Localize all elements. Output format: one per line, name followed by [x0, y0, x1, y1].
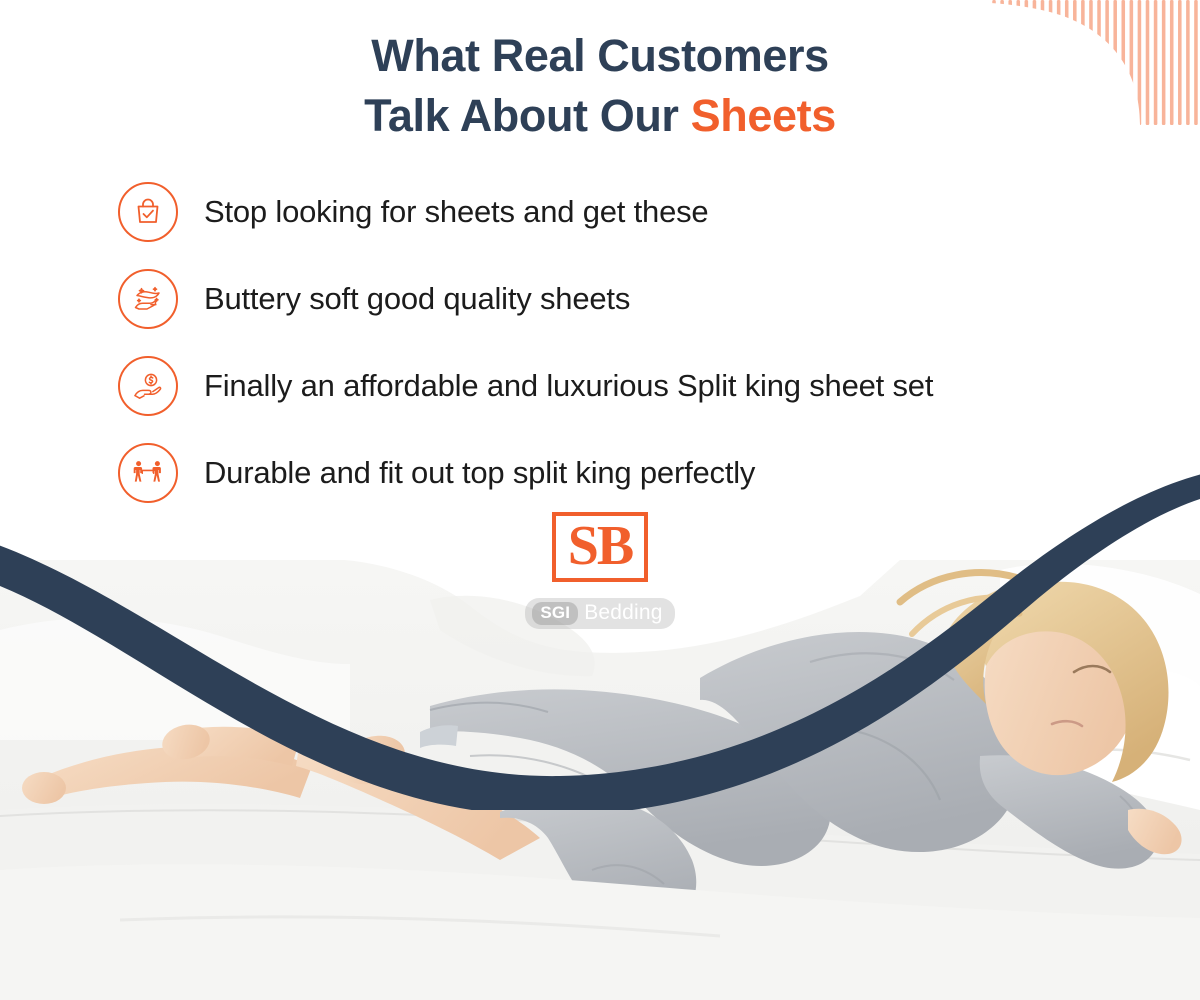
page-title: What Real Customers Talk About Our Sheet…: [0, 26, 1200, 146]
headline-accent-word: Sheets: [691, 90, 836, 141]
brand-logo: SB SGI Bedding: [0, 512, 1200, 629]
feature-label: Finally an affordable and luxurious Spli…: [204, 368, 933, 404]
logo-monogram: SB: [568, 515, 633, 577]
hand-soft-fabric-icon: [118, 269, 178, 329]
feature-row: Stop looking for sheets and get these: [118, 168, 1138, 255]
shopping-bag-check-icon: [118, 182, 178, 242]
feature-row: Buttery soft good quality sheets: [118, 255, 1138, 342]
hand-holding-money-icon: [118, 356, 178, 416]
feature-label: Buttery soft good quality sheets: [204, 281, 630, 317]
feature-row: Finally an affordable and luxurious Spli…: [118, 342, 1138, 429]
headline-line-2-prefix: Talk About Our: [364, 90, 691, 141]
headline-line-1: What Real Customers: [0, 26, 1200, 86]
headline-line-2: Talk About Our Sheets: [0, 86, 1200, 146]
watermark-word: Bedding: [584, 601, 662, 625]
infographic-banner: What Real Customers Talk About Our Sheet…: [0, 0, 1200, 1000]
two-people-stretching-sheet-icon: [118, 443, 178, 503]
watermark: SGI Bedding: [525, 598, 674, 629]
feature-list: Stop looking for sheets and get these Bu…: [118, 168, 1138, 516]
watermark-pill: SGI: [532, 602, 578, 625]
feature-row: Durable and fit out top split king perfe…: [118, 429, 1138, 516]
feature-label: Stop looking for sheets and get these: [204, 194, 708, 230]
feature-label: Durable and fit out top split king perfe…: [204, 455, 755, 491]
logo-box: SB: [552, 512, 649, 582]
